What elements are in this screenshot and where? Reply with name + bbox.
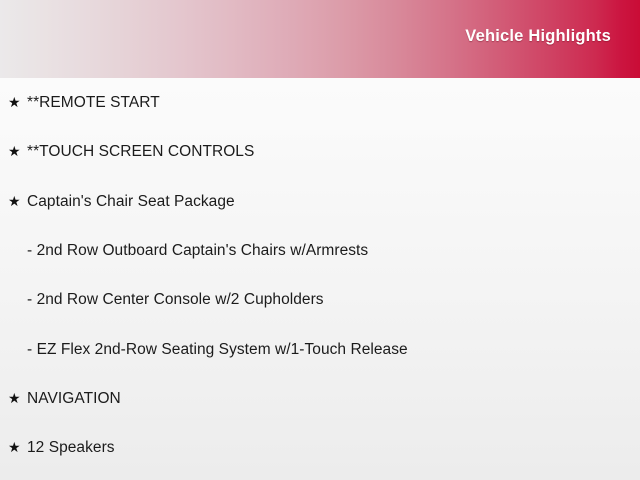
highlight-item-label: Captain's Chair Seat Package xyxy=(27,193,235,210)
list-item: ★Captain's Chair Seat Package xyxy=(0,177,640,226)
star-bullet-icon: ★ xyxy=(8,391,27,405)
star-bullet-icon: ★ xyxy=(8,144,27,158)
star-bullet-icon: ★ xyxy=(8,440,27,454)
star-bullet-icon: ★ xyxy=(8,95,27,109)
list-item: - 2nd Row Center Console w/2 Cupholders xyxy=(0,275,640,324)
highlight-item-label: - EZ Flex 2nd-Row Seating System w/1-Tou… xyxy=(27,341,408,358)
list-item: - 2nd Row Outboard Captain's Chairs w/Ar… xyxy=(0,226,640,275)
panel-header-banner: Vehicle Highlights xyxy=(0,0,640,78)
vehicle-highlights-list: ★**REMOTE START★**TOUCH SCREEN CONTROLS★… xyxy=(0,78,640,472)
vehicle-highlights-panel: Vehicle Highlights ★**REMOTE START★**TOU… xyxy=(0,0,640,480)
highlight-item-label: 12 Speakers xyxy=(27,439,115,456)
list-item: ★12 Speakers xyxy=(0,423,640,472)
list-item: - EZ Flex 2nd-Row Seating System w/1-Tou… xyxy=(0,324,640,373)
list-item: ★**REMOTE START xyxy=(0,78,640,127)
highlight-item-label: - 2nd Row Center Console w/2 Cupholders xyxy=(27,291,324,308)
highlight-item-label: **REMOTE START xyxy=(27,94,160,111)
star-bullet-icon: ★ xyxy=(8,194,27,208)
page-title: Vehicle Highlights xyxy=(465,27,611,46)
highlight-item-label: **TOUCH SCREEN CONTROLS xyxy=(27,143,254,160)
highlight-item-label: - 2nd Row Outboard Captain's Chairs w/Ar… xyxy=(27,242,368,259)
highlight-item-label: NAVIGATION xyxy=(27,390,121,407)
list-item: ★NAVIGATION xyxy=(0,374,640,423)
list-item: ★**TOUCH SCREEN CONTROLS xyxy=(0,127,640,176)
